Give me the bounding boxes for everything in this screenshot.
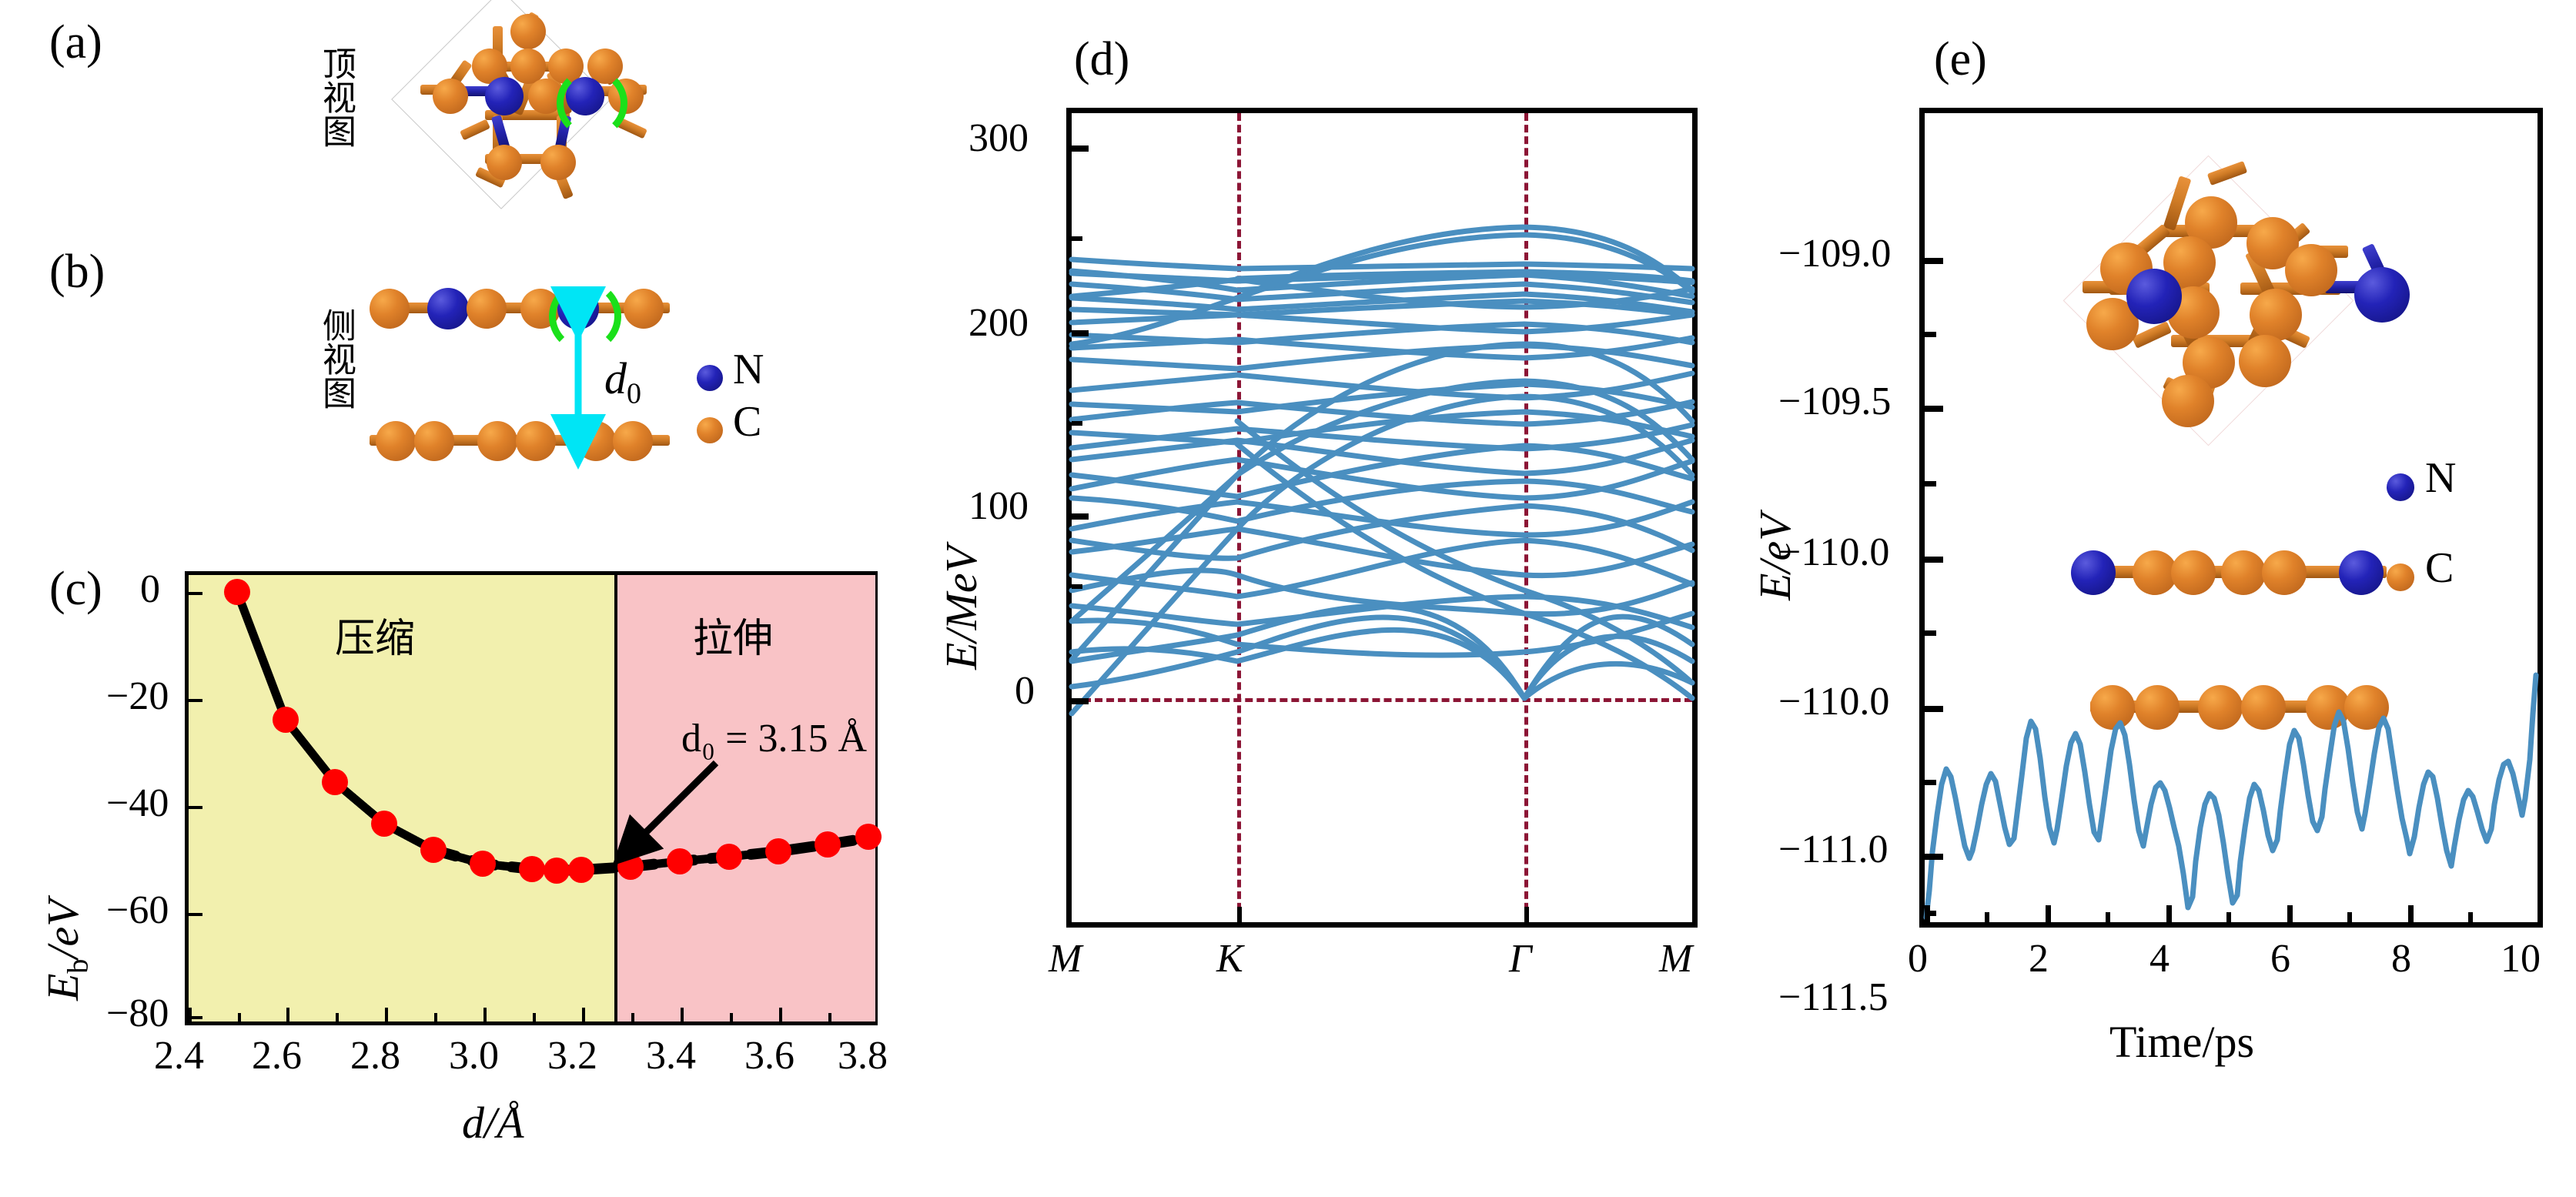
y-tick (1072, 236, 1082, 241)
y-tick (1072, 513, 1089, 520)
y-tick (189, 1016, 202, 1019)
y-tick-label: 100 (969, 483, 1029, 529)
x-tick (2287, 905, 2293, 922)
panel-a-label: (a) (49, 15, 102, 70)
y-tick-label: −109.5 (1778, 379, 1891, 424)
panel-c-plot-frame: 压缩 拉伸 d₀ = 3.15 Å (185, 571, 878, 1025)
carbon-atom (414, 421, 454, 461)
x-tick (730, 1013, 733, 1021)
carbon-atom (624, 289, 664, 329)
x-tick-label: 0 (1908, 936, 1928, 981)
x-tick-label: 3.0 (449, 1033, 499, 1078)
x-tick (1237, 907, 1242, 922)
y-tick (1072, 421, 1082, 426)
x-tick-label: 6 (2270, 936, 2290, 981)
x-tick (336, 1013, 339, 1021)
y-tick (1072, 584, 1082, 589)
panel-e-plot-frame: N C (1919, 108, 2543, 928)
panel-c-ylabel: Eb/eV (37, 899, 95, 1001)
carbon-atom (613, 421, 653, 461)
x-tick (533, 1013, 536, 1021)
x-tick (2226, 912, 2231, 922)
x-tick (779, 1008, 782, 1021)
carbon-atom (510, 14, 546, 49)
data-point (273, 707, 299, 733)
y-tick-label: −110.0 (1778, 679, 1889, 724)
panel-d-label: (d) (1074, 32, 1129, 87)
x-tick-label: 8 (2391, 936, 2411, 981)
highlight-arc-icon (557, 68, 627, 139)
x-tick-label: 2 (2029, 936, 2049, 981)
y-tick-label: −80 (106, 991, 169, 1036)
legend-carbon-dot (697, 417, 723, 443)
molecule-side-view: d0 (370, 277, 693, 470)
x-tick-label: 3.8 (838, 1033, 888, 1078)
data-point (224, 579, 250, 605)
nitrogen-atom (485, 77, 524, 115)
x-tick (189, 1008, 192, 1021)
data-point (420, 837, 447, 863)
panel-d-plot-frame (1066, 108, 1698, 928)
md-energy-trace (1925, 113, 2538, 922)
y-tick (189, 699, 202, 702)
panel-b-caption: 侧视图 (311, 308, 360, 410)
legend-carbon-label: C (733, 397, 761, 446)
x-tick-label-K: K (1216, 936, 1243, 981)
distance-label: d0 (604, 353, 641, 411)
y-tick (1072, 330, 1089, 336)
y-tick-label: −111.0 (1778, 827, 1888, 872)
x-tick-label: 3.6 (744, 1033, 795, 1078)
y-tick (1925, 406, 1943, 412)
y-tick (189, 806, 202, 809)
y-tick-label: 0 (140, 567, 160, 612)
y-tick (1072, 145, 1089, 152)
x-tick (2347, 912, 2352, 922)
x-tick-label-Gamma: Γ (1509, 936, 1532, 981)
carbon-atom (433, 79, 468, 114)
d0-annotation-label: d₀ = 3.15 Å (681, 716, 867, 761)
carbon-atom (487, 145, 522, 180)
legend-nitrogen-label: N (733, 345, 764, 394)
x-tick (582, 1008, 585, 1021)
y-tick-label: 200 (969, 300, 1029, 346)
panel-a-caption: 顶视图 (311, 46, 360, 148)
y-tick-label: −111.5 (1778, 975, 1888, 1020)
x-tick (238, 1013, 241, 1021)
y-tick (1925, 706, 1943, 712)
data-point (765, 838, 791, 864)
panel-c-xlabel: d/Å (462, 1097, 524, 1149)
data-point (519, 856, 545, 882)
x-tick-label: 2.8 (350, 1033, 400, 1078)
carbon-atom (540, 145, 576, 180)
y-tick-label: −60 (106, 888, 169, 933)
nitrogen-atom (427, 288, 469, 329)
x-tick (1524, 907, 1529, 922)
panel-b-label: (b) (49, 245, 105, 299)
y-tick (189, 913, 202, 916)
x-tick-label: 3.4 (646, 1033, 696, 1078)
data-point (322, 769, 348, 795)
x-tick-label-M-left: M (1049, 936, 1082, 981)
x-tick (681, 1008, 684, 1021)
data-point (371, 811, 397, 837)
x-tick (1925, 905, 1930, 922)
x-tick (434, 1013, 437, 1021)
d0-annotation-arrow (558, 752, 735, 875)
y-tick (1072, 698, 1089, 704)
phonon-bands (1072, 113, 1692, 922)
x-tick (286, 1008, 289, 1021)
molecule-top-view (370, 8, 677, 231)
x-tick-label: 2.6 (252, 1033, 302, 1078)
y-tick (1925, 332, 1936, 337)
data-point (855, 824, 882, 850)
x-tick (483, 1008, 487, 1021)
legend-nitrogen-dot (697, 365, 723, 391)
y-tick (1925, 630, 1936, 636)
x-tick (1985, 912, 1989, 922)
y-tick-label: −20 (106, 674, 169, 719)
panel-c-series-dashed (189, 575, 874, 1021)
carbon-atom (370, 289, 410, 329)
y-tick-label: −40 (106, 781, 169, 826)
y-tick-label: 0 (1015, 668, 1035, 714)
panel-e-label: (e) (1934, 32, 1987, 87)
interlayer-distance-arrow (567, 305, 597, 451)
x-tick (2166, 905, 2172, 922)
x-tick-label: 3.2 (547, 1033, 597, 1078)
x-tick (828, 1013, 831, 1021)
carbon-atom (467, 289, 507, 329)
panel-c-label: (c) (49, 562, 102, 617)
x-tick (631, 1013, 634, 1021)
y-tick-label: −109.0 (1778, 231, 1891, 276)
x-tick (2468, 912, 2473, 922)
x-tick (2408, 905, 2414, 922)
y-tick-label: −110.0 (1778, 530, 1889, 575)
x-tick-label: 4 (2149, 936, 2170, 981)
y-tick (1925, 258, 1943, 264)
y-tick-label: 300 (969, 115, 1029, 161)
panel-d-ylabel: E/MeV (935, 546, 987, 670)
x-tick (2106, 912, 2110, 922)
x-tick-label-M-right: M (1659, 936, 1692, 981)
data-point (470, 851, 496, 877)
x-tick-label: 2.4 (154, 1033, 204, 1078)
x-tick-label: 10 (2501, 936, 2541, 981)
y-tick (1925, 481, 1936, 486)
y-tick (1925, 854, 1943, 860)
data-point (815, 831, 841, 858)
carbon-atom (376, 421, 416, 461)
x-tick (2046, 905, 2051, 922)
carbon-atom (477, 421, 517, 461)
y-tick (1925, 557, 1943, 563)
y-tick (1925, 780, 1936, 785)
panel-e-xlabel: Time/ps (2109, 1016, 2254, 1068)
carbon-atom (516, 421, 556, 461)
x-tick (385, 1008, 388, 1021)
y-tick (189, 592, 202, 595)
